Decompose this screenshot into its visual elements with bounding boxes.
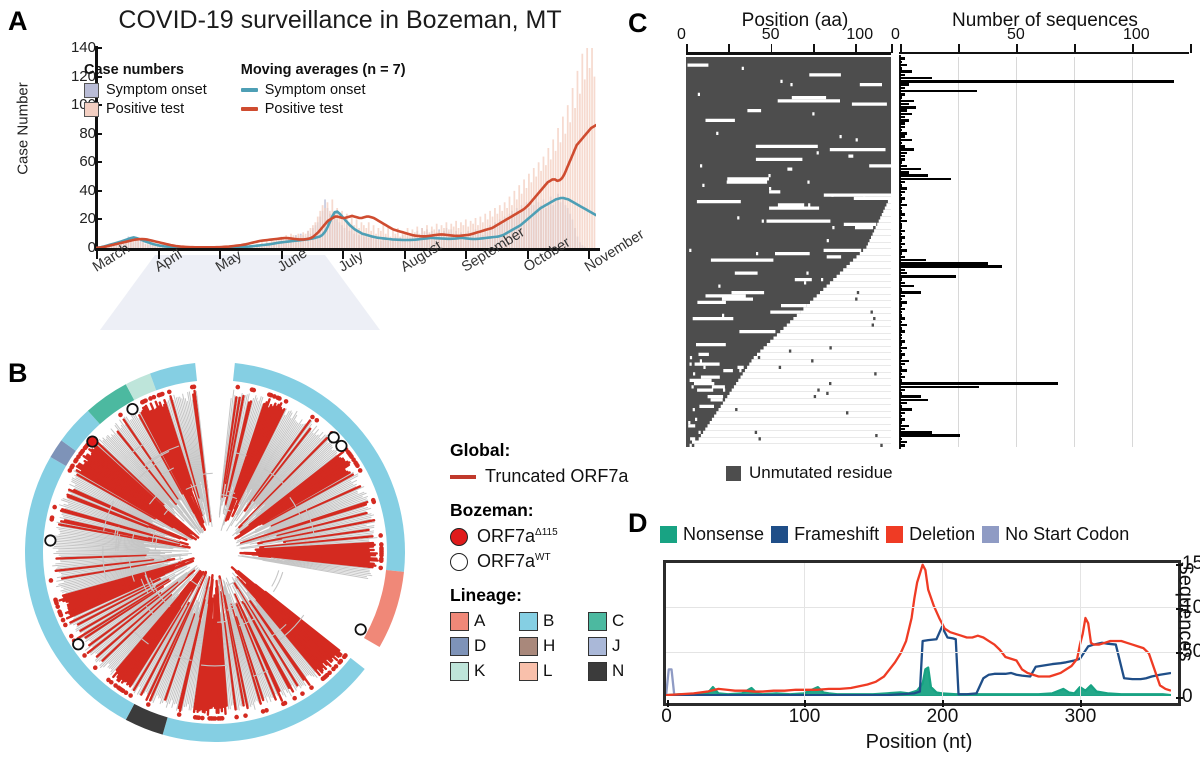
panel-c-bar bbox=[900, 194, 902, 196]
legend-label-unmutated-residue: Unmutated residue bbox=[749, 463, 893, 483]
panel-c-bar bbox=[900, 308, 905, 310]
panel-c-bar bbox=[900, 64, 907, 66]
legend-dot-orf7a-delta115 bbox=[450, 528, 468, 546]
legend-label-orf7a-delta115: ORF7aΔ115 bbox=[477, 526, 558, 547]
panel-d-traces bbox=[666, 563, 1171, 696]
panel-c-bar bbox=[900, 135, 905, 137]
panel-c-bar bbox=[900, 334, 902, 336]
panel-c-position-tick-label: 50 bbox=[762, 26, 780, 44]
panel-a-legend-group-moving-averages: Moving averages (n = 7) Symptom onset Po… bbox=[241, 62, 406, 120]
panel-c-bar bbox=[900, 291, 921, 293]
panel-c-bar bbox=[900, 132, 907, 134]
panel-c-heatmap-axis-line bbox=[686, 52, 891, 55]
panel-c-bar bbox=[900, 288, 902, 290]
panel-d-gridline-v bbox=[942, 563, 943, 703]
panel-a-y-tick-label: 60 bbox=[56, 153, 96, 170]
panel-c-bar bbox=[900, 298, 902, 300]
legend-label-lineage-a: A bbox=[474, 611, 485, 631]
legend-swatch-positive-test bbox=[84, 102, 99, 117]
panel-c-bar bbox=[900, 106, 916, 108]
panel-c-position-tick-label: 0 bbox=[677, 26, 686, 44]
tree-ring-segment bbox=[150, 363, 197, 390]
legend-line-positive-test bbox=[241, 107, 258, 110]
panel-c-bar bbox=[900, 304, 902, 306]
legend-item-positive-test-line: Positive test bbox=[241, 101, 406, 117]
panel-c-bar bbox=[900, 363, 905, 365]
panel-c-bar bbox=[900, 184, 902, 186]
figure-root: A COVID-19 surveillance in Bozeman, MT C… bbox=[0, 0, 1200, 764]
panel-c-bar bbox=[900, 239, 902, 241]
legend-swatch-frameshift bbox=[771, 526, 788, 543]
panel-c-bar bbox=[900, 204, 907, 206]
panel-c-letter: C bbox=[628, 10, 648, 37]
bozeman-sample-marker bbox=[87, 436, 97, 446]
panel-c-bar bbox=[900, 408, 912, 410]
panel-c-bar bbox=[900, 220, 907, 222]
legend-label-truncated-orf7a: Truncated ORF7a bbox=[485, 466, 628, 487]
panel-c-sequences-tick-label: 100 bbox=[1123, 26, 1150, 44]
panel-c-bar bbox=[900, 434, 960, 436]
bozeman-sample-marker bbox=[328, 432, 338, 442]
panel-c-bar bbox=[900, 187, 907, 189]
panel-c-bar bbox=[900, 67, 902, 69]
panel-c-bar bbox=[900, 256, 905, 258]
panel-c-bar bbox=[900, 431, 932, 433]
panel-c-bar bbox=[900, 226, 902, 228]
panel-c-bar bbox=[900, 103, 909, 105]
panel-a-y-tick-label: 40 bbox=[56, 182, 96, 199]
panel-c-bar bbox=[900, 246, 902, 248]
legend-label-lineage-b: B bbox=[543, 611, 554, 631]
legend-lineage-b: B bbox=[519, 611, 581, 631]
panel-c-bar bbox=[900, 386, 979, 388]
panel-c-bar bbox=[900, 145, 905, 147]
panel-c-bar bbox=[900, 252, 902, 254]
panel-c-bar bbox=[900, 285, 914, 287]
panel-c-bar bbox=[900, 93, 905, 95]
panel-c-bar bbox=[900, 259, 926, 261]
panel-c-bar bbox=[900, 122, 905, 124]
panel-d-gridline-h bbox=[666, 607, 1178, 608]
legend-swatch-lineage-a bbox=[450, 612, 469, 631]
panel-c-bar bbox=[900, 126, 905, 128]
tree-ring-segment bbox=[126, 704, 168, 735]
panel-d-legend-item-nonsense: Nonsense bbox=[660, 524, 764, 545]
panel-c-bar bbox=[900, 83, 909, 85]
panel-d-x-axis-label: Position (nt) bbox=[663, 731, 1175, 754]
panel-a-y-tick-label: 0 bbox=[56, 239, 96, 256]
panel-d-y-tick-label: 150 bbox=[1182, 553, 1200, 575]
panel-c-bar bbox=[900, 278, 902, 280]
panel-c-bar bbox=[900, 324, 907, 326]
panel-d-trace-frameshift bbox=[666, 627, 1171, 695]
panel-b: B bbox=[0, 340, 440, 764]
panel-c-bar bbox=[900, 210, 902, 212]
panel-c-sequences-tick-label: 0 bbox=[891, 26, 900, 44]
legend-item-positive-test-bar: Positive test bbox=[84, 101, 207, 117]
panel-c-bar bbox=[900, 249, 907, 251]
panel-c-bar bbox=[900, 70, 912, 72]
panel-c-bar bbox=[900, 217, 902, 219]
panel-d-trace-deletion bbox=[666, 565, 1171, 695]
panel-c-bar bbox=[900, 200, 902, 202]
legend-swatch-deletion bbox=[886, 526, 903, 543]
panel-c-bar bbox=[900, 428, 905, 430]
panel-c-bar bbox=[900, 230, 905, 232]
panel-c-bar bbox=[900, 272, 907, 274]
panel-c-bar bbox=[900, 395, 921, 397]
legend-group1-title: Case numbers bbox=[84, 62, 207, 78]
panel-c-bar bbox=[900, 207, 902, 209]
panel-c-legend: Unmutated residue bbox=[726, 463, 893, 483]
panel-c-bar bbox=[900, 155, 905, 157]
legend-label-nonsense: Nonsense bbox=[683, 524, 764, 545]
panel-c-bar bbox=[900, 233, 902, 235]
panel-c-bar bbox=[900, 399, 928, 401]
legend-label-no-start-codon: No Start Codon bbox=[1005, 524, 1129, 545]
panel-c-bar bbox=[900, 269, 905, 271]
panel-c-bar bbox=[900, 314, 902, 316]
panel-c-bar bbox=[900, 295, 905, 297]
panel-c-bar bbox=[900, 356, 902, 358]
panel-c-bar bbox=[900, 330, 905, 332]
panel-c-bar bbox=[900, 366, 902, 368]
bozeman-sample-marker bbox=[73, 639, 83, 649]
panel-c-bar bbox=[900, 100, 914, 102]
legend-line-symptom-onset bbox=[241, 88, 258, 91]
panel-c-bar-chart bbox=[900, 57, 1190, 447]
legend-label-frameshift: Frameshift bbox=[794, 524, 879, 545]
panel-c-bar bbox=[900, 418, 905, 420]
panel-c-bar bbox=[900, 415, 902, 417]
panel-a-y-axis-label: Case Number bbox=[15, 44, 32, 214]
panel-c-bar bbox=[900, 282, 905, 284]
panel-c-heatmap bbox=[686, 57, 891, 447]
bozeman-sample-marker bbox=[45, 535, 55, 545]
panel-c-bar bbox=[900, 376, 905, 378]
tree-ring-segment bbox=[364, 570, 404, 647]
legend-dot-orf7a-wt bbox=[450, 553, 468, 571]
bozeman-sample-marker bbox=[355, 624, 365, 634]
bozeman-sample-marker bbox=[336, 441, 346, 451]
panel-c-bar bbox=[900, 171, 909, 173]
panel-c-bar bbox=[900, 96, 902, 98]
panel-c-bar bbox=[900, 116, 905, 118]
panel-c-bar bbox=[900, 158, 905, 160]
panel-c-bar bbox=[900, 152, 907, 154]
panel-c-bar bbox=[900, 353, 905, 355]
panel-c-bar bbox=[900, 80, 1174, 82]
panel-c-sequences-tick bbox=[1190, 44, 1192, 53]
panel-c-bar bbox=[900, 438, 902, 440]
legend-lineage-k: K bbox=[450, 661, 512, 681]
panel-d-legend-item-deletion: Deletion bbox=[886, 524, 975, 545]
panel-d-legend: NonsenseFrameshiftDeletionNo Start Codon bbox=[660, 524, 1129, 545]
panel-d-y-tick-label: 50 bbox=[1182, 641, 1200, 663]
legend-item-symptom-onset-bar: Symptom onset bbox=[84, 82, 207, 98]
panel-c-bar bbox=[900, 213, 905, 215]
panel-c-bar bbox=[900, 373, 902, 375]
panel-c-bar bbox=[900, 392, 902, 394]
legend-label-positive-test-line: Positive test bbox=[265, 101, 343, 117]
legend-label-lineage-k: K bbox=[474, 661, 485, 681]
panel-c-gridline bbox=[1074, 57, 1075, 447]
panel-c-bar bbox=[900, 444, 905, 446]
legend-item-symptom-onset-line: Symptom onset bbox=[241, 82, 406, 98]
panel-c-bar bbox=[900, 317, 905, 319]
legend-label-deletion: Deletion bbox=[909, 524, 975, 545]
panel-d-x-tick-label: 200 bbox=[927, 706, 959, 728]
panel-d-y-tick-label: 100 bbox=[1182, 597, 1200, 619]
panel-c-bar bbox=[900, 347, 907, 349]
panel-c-bar bbox=[900, 301, 907, 303]
legend-label-lineage-l: L bbox=[543, 661, 552, 681]
panel-c-bar bbox=[900, 327, 902, 329]
panel-c-bar bbox=[900, 87, 905, 89]
legend-label-lineage-d: D bbox=[474, 636, 486, 656]
panel-c-bar bbox=[900, 402, 907, 404]
legend-line-truncated-orf7a bbox=[450, 475, 476, 479]
panel-c-bar bbox=[900, 168, 921, 170]
panel-c-bar bbox=[900, 441, 907, 443]
panel-c-bar bbox=[900, 77, 932, 79]
panel-c-bar bbox=[900, 379, 902, 381]
panel-d-x-tick-label: 0 bbox=[661, 706, 672, 728]
panel-c-bar bbox=[900, 321, 902, 323]
legend-swatch-lineage-c bbox=[588, 612, 607, 631]
panel-c-bars-axis-line bbox=[899, 52, 1189, 54]
panel-c-bar bbox=[900, 191, 905, 193]
bozeman-sample-marker bbox=[127, 404, 137, 414]
panel-c-bar bbox=[900, 197, 905, 199]
panel-c-bar bbox=[900, 337, 902, 339]
panel-c-heatmap-cells bbox=[686, 57, 891, 447]
legend-swatch-symptom-onset bbox=[84, 83, 99, 98]
panel-c-bar bbox=[900, 236, 905, 238]
panel-a-legend: Case numbers Symptom onset Positive test… bbox=[84, 62, 406, 120]
legend-swatch-lineage-k bbox=[450, 662, 469, 681]
panel-d-gridline-h bbox=[666, 652, 1178, 653]
panel-c-bar bbox=[900, 109, 907, 111]
panel-c-bar bbox=[900, 412, 905, 414]
panel-a-legend-group-case-numbers: Case numbers Symptom onset Positive test bbox=[84, 62, 207, 120]
panel-c-bar bbox=[900, 74, 905, 76]
legend-lineage-d: D bbox=[450, 636, 512, 656]
panel-c-bar bbox=[900, 265, 1002, 267]
panel-c-bar bbox=[900, 405, 902, 407]
panel-c-bar bbox=[900, 181, 905, 183]
panel-c-bar bbox=[900, 119, 909, 121]
panel-c-bar bbox=[900, 174, 928, 176]
legend-swatch-lineage-j bbox=[588, 637, 607, 656]
legend-label-symptom-onset-bar: Symptom onset bbox=[106, 82, 207, 98]
panel-c-sequences-tick-label: 50 bbox=[1007, 26, 1025, 44]
panel-d-legend-item-frameshift: Frameshift bbox=[771, 524, 879, 545]
legend-swatch-lineage-n bbox=[588, 662, 607, 681]
legend-swatch-unmutated-residue bbox=[726, 466, 741, 481]
panel-c-bar bbox=[900, 311, 902, 313]
panel-c-bar bbox=[900, 61, 902, 63]
panel-c-bar bbox=[900, 343, 902, 345]
panel-b-phylogenetic-tree bbox=[0, 340, 440, 764]
panel-a-y-tick-label: 140 bbox=[56, 39, 96, 56]
panel-a-y-tick-label: 80 bbox=[56, 125, 96, 142]
legend-lineage-l: L bbox=[519, 661, 581, 681]
panel-c-gridline bbox=[1132, 57, 1133, 447]
panel-c-bar bbox=[900, 382, 1058, 384]
panel-d-y-tick-label: 0 bbox=[1182, 686, 1193, 708]
panel-c-bar bbox=[900, 57, 905, 59]
panel-a-y-tick-label: 20 bbox=[56, 210, 96, 227]
panel-c-bar bbox=[900, 340, 905, 342]
panel-c-bar bbox=[900, 425, 909, 427]
panel-c-bar bbox=[900, 262, 988, 264]
legend-group2-title: Moving averages (n = 7) bbox=[241, 62, 406, 78]
panel-c-bar bbox=[900, 113, 912, 115]
panel-c-bar bbox=[900, 178, 951, 180]
legend-label-orf7a-wt: ORF7aWT bbox=[477, 551, 551, 572]
panel-c-bar bbox=[900, 369, 907, 371]
panel-d-plot-area bbox=[663, 560, 1181, 706]
panel-c-position-tick-label: 100 bbox=[846, 26, 873, 44]
panel-d-gridline-v bbox=[1080, 563, 1081, 703]
panel-c-bar bbox=[900, 129, 902, 131]
legend-label-lineage-h: H bbox=[543, 636, 555, 656]
legend-swatch-nonsense bbox=[660, 526, 677, 543]
panel-c-bar bbox=[900, 165, 907, 167]
panel-c-bar bbox=[900, 421, 902, 423]
panel-d-x-tick-label: 100 bbox=[789, 706, 821, 728]
legend-label-positive-test-bar: Positive test bbox=[106, 101, 184, 117]
panel-c-bar bbox=[900, 223, 902, 225]
panel-c-bar bbox=[900, 350, 902, 352]
panel-c-bar bbox=[900, 148, 914, 150]
panel-c-gridline bbox=[958, 57, 959, 447]
legend-swatch-lineage-b bbox=[519, 612, 538, 631]
legend-swatch-lineage-l bbox=[519, 662, 538, 681]
panel-d-legend-item-no-start-codon: No Start Codon bbox=[982, 524, 1129, 545]
legend-lineage-a: A bbox=[450, 611, 512, 631]
panel-a: A COVID-19 surveillance in Bozeman, MT C… bbox=[0, 0, 620, 330]
panel-c-gridline bbox=[1016, 57, 1017, 447]
legend-label-symptom-onset-line: Symptom onset bbox=[265, 82, 366, 98]
panel-c-bar bbox=[900, 139, 912, 141]
panel-c-bar bbox=[900, 275, 956, 277]
panel-d-letter: D bbox=[628, 510, 648, 537]
panel-c-bar bbox=[900, 360, 909, 362]
panel-c-bar bbox=[900, 142, 902, 144]
panel-c-bar bbox=[900, 90, 977, 92]
panel-c-bar bbox=[900, 243, 905, 245]
panel-c-position-tick bbox=[891, 44, 893, 53]
panel-d-gridline-v bbox=[804, 563, 805, 703]
panel-d-x-tick-label: 300 bbox=[1065, 706, 1097, 728]
legend-lineage-h: H bbox=[519, 636, 581, 656]
legend-swatch-no-start-codon bbox=[982, 526, 999, 543]
legend-swatch-lineage-h bbox=[519, 637, 538, 656]
legend-swatch-lineage-d bbox=[450, 637, 469, 656]
panel-c-bar bbox=[900, 389, 905, 391]
panel-c-bar bbox=[900, 161, 902, 163]
